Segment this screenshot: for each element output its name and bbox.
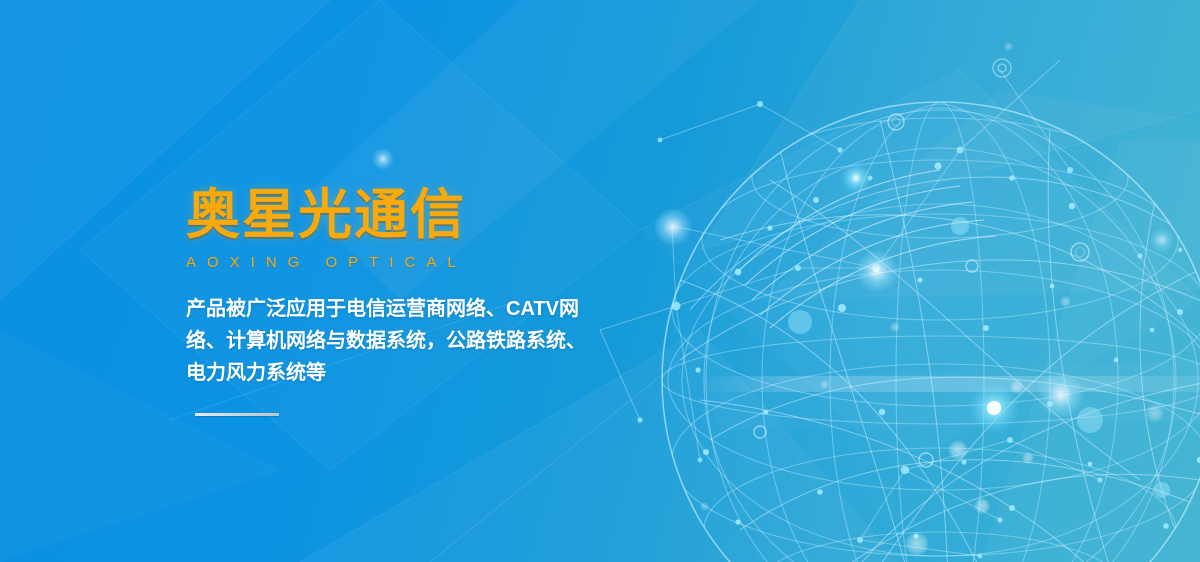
bokeh-dot [905,532,929,556]
bokeh-dot [700,502,709,511]
banner-description: 产品被广泛应用于电信运营商网络、CATV网 络、计算机网络与数据系统，公路铁路系… [186,293,606,389]
bokeh-dot [820,380,829,389]
bokeh-dot [948,440,968,460]
bokeh-dot [890,322,900,332]
bokeh-dot [1004,42,1013,51]
bokeh-dot [974,498,990,514]
banner-content: 奥星光通信 AOXING OPTICAL 产品被广泛应用于电信运营商网络、CAT… [186,186,616,416]
bokeh-dot [1146,404,1164,422]
divider-rule [195,413,279,416]
description-line: 络、计算机网络与数据系统，公路铁路系统、 [186,325,606,357]
bokeh-dot [1022,452,1034,464]
bokeh-dot [1010,380,1024,394]
description-line: 产品被广泛应用于电信运营商网络、CATV网 [186,293,606,325]
bokeh-dot [1060,296,1071,307]
page-title: 奥星光通信 [186,186,616,244]
hero-banner: 奥星光通信 AOXING OPTICAL 产品被广泛应用于电信运营商网络、CAT… [0,0,1200,562]
brand-subtitle: AOXING OPTICAL [186,254,616,271]
description-line: 电力风力系统等 [186,357,606,389]
